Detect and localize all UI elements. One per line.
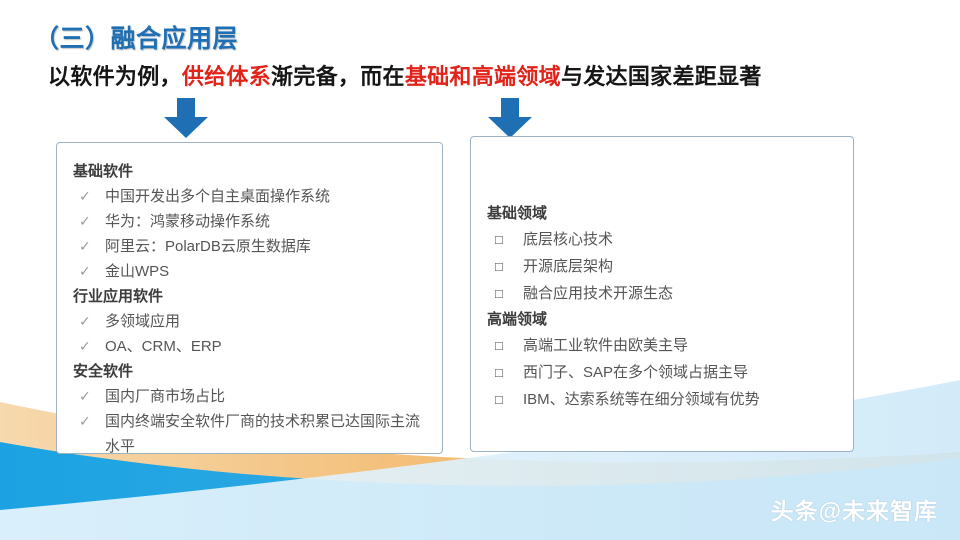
- square-bullet-icon: □: [495, 280, 503, 307]
- list-item: ✓ 国内终端安全软件厂商的技术积累已达国际主流水平: [71, 409, 428, 459]
- list-item-label: 国内厂商市场占比: [105, 388, 225, 405]
- check-icon: ✓: [79, 209, 91, 234]
- list-item-label: 华为：鸿蒙移动操作系统: [105, 213, 270, 230]
- list-basic-domain: □ 底层核心技术 □ 开源底层架构 □ 融合应用技术开源生态: [485, 226, 839, 307]
- group-heading-basic-software: 基础软件: [73, 159, 428, 184]
- list-item-label: OA、CRM、ERP: [105, 338, 222, 355]
- list-item: □ 融合应用技术开源生态: [485, 280, 839, 307]
- list-item: □ 高端工业软件由欧美主导: [485, 332, 839, 359]
- list-item-label: 西门子、SAP在多个领域占据主导: [523, 364, 748, 381]
- list-item: ✓ 国内厂商市场占比: [71, 384, 428, 409]
- down-arrow-icon-right: [488, 98, 532, 138]
- check-icon: ✓: [79, 334, 91, 359]
- list-item: □ IBM、达索系统等在细分领域有优势: [485, 386, 839, 413]
- list-item: ✓ 金山WPS: [71, 259, 428, 284]
- subtitle-part-3: 与发达国家差距显著: [561, 64, 762, 89]
- page-subtitle: 以软件为例，供给体系渐完备，而在基础和高端领域与发达国家差距显著: [48, 59, 762, 91]
- list-item-label: 开源底层架构: [523, 258, 613, 275]
- check-icon: ✓: [79, 184, 91, 209]
- square-bullet-icon: □: [495, 332, 503, 359]
- list-high-end-domain: □ 高端工业软件由欧美主导 □ 西门子、SAP在多个领域占据主导 □ IBM、达…: [485, 332, 839, 413]
- check-icon: ✓: [79, 234, 91, 259]
- subtitle-highlight-2: 基础和高端领域: [405, 64, 561, 89]
- group-heading-security-software: 安全软件: [73, 359, 428, 384]
- list-item-label: 国内终端安全软件厂商的技术积累已达国际主流水平: [105, 413, 420, 455]
- list-item: ✓ 阿里云：PolarDB云原生数据库: [71, 234, 428, 259]
- list-basic-software: ✓ 中国开发出多个自主桌面操作系统 ✓ 华为：鸿蒙移动操作系统 ✓ 阿里云：Po…: [71, 184, 428, 284]
- down-arrow-icon-left: [164, 98, 208, 138]
- page-title: （三）融合应用层: [34, 19, 238, 55]
- group-heading-basic-domain: 基础领域: [487, 201, 839, 226]
- group-heading-high-end-domain: 高端领域: [487, 307, 839, 332]
- list-item: ✓ OA、CRM、ERP: [71, 334, 428, 359]
- subtitle-highlight-1: 供给体系: [182, 64, 271, 89]
- subtitle-part-2: 渐完备，而在: [271, 64, 405, 89]
- list-industry-application-software: ✓ 多领域应用 ✓ OA、CRM、ERP: [71, 309, 428, 359]
- gap-areas-box: 基础领域 □ 底层核心技术 □ 开源底层架构 □ 融合应用技术开源生态 高端领域: [470, 136, 854, 452]
- watermark-text: 头条@未来智库: [771, 492, 938, 526]
- list-item-label: 底层核心技术: [523, 231, 613, 248]
- list-item: □ 开源底层架构: [485, 253, 839, 280]
- list-item: ✓ 中国开发出多个自主桌面操作系统: [71, 184, 428, 209]
- group-heading-industry-application-software: 行业应用软件: [73, 284, 428, 309]
- list-item-label: 融合应用技术开源生态: [523, 285, 673, 302]
- list-item-label: 多领域应用: [105, 313, 180, 330]
- square-bullet-icon: □: [495, 253, 503, 280]
- check-icon: ✓: [79, 384, 91, 409]
- list-item: □ 底层核心技术: [485, 226, 839, 253]
- check-icon: ✓: [79, 259, 91, 284]
- domestic-software-box: 基础软件 ✓ 中国开发出多个自主桌面操作系统 ✓ 华为：鸿蒙移动操作系统 ✓ 阿…: [56, 142, 443, 454]
- list-item: ✓ 华为：鸿蒙移动操作系统: [71, 209, 428, 234]
- list-item: □ 西门子、SAP在多个领域占据主导: [485, 359, 839, 386]
- list-item: ✓ 多领域应用: [71, 309, 428, 334]
- square-bullet-icon: □: [495, 359, 503, 386]
- slide-canvas: （三）融合应用层 以软件为例，供给体系渐完备，而在基础和高端领域与发达国家差距显…: [0, 0, 960, 540]
- square-bullet-icon: □: [495, 386, 503, 413]
- check-icon: ✓: [79, 309, 91, 334]
- list-item-label: 金山WPS: [105, 263, 169, 280]
- list-item-label: 高端工业软件由欧美主导: [523, 337, 688, 354]
- list-item-label: 中国开发出多个自主桌面操作系统: [105, 188, 330, 205]
- list-item-label: 阿里云：PolarDB云原生数据库: [105, 238, 311, 255]
- square-bullet-icon: □: [495, 226, 503, 253]
- check-icon: ✓: [79, 409, 91, 434]
- list-item-label: IBM、达索系统等在细分领域有优势: [523, 391, 760, 408]
- list-security-software: ✓ 国内厂商市场占比 ✓ 国内终端安全软件厂商的技术积累已达国际主流水平: [71, 384, 428, 459]
- subtitle-part-1: 以软件为例，: [48, 64, 182, 89]
